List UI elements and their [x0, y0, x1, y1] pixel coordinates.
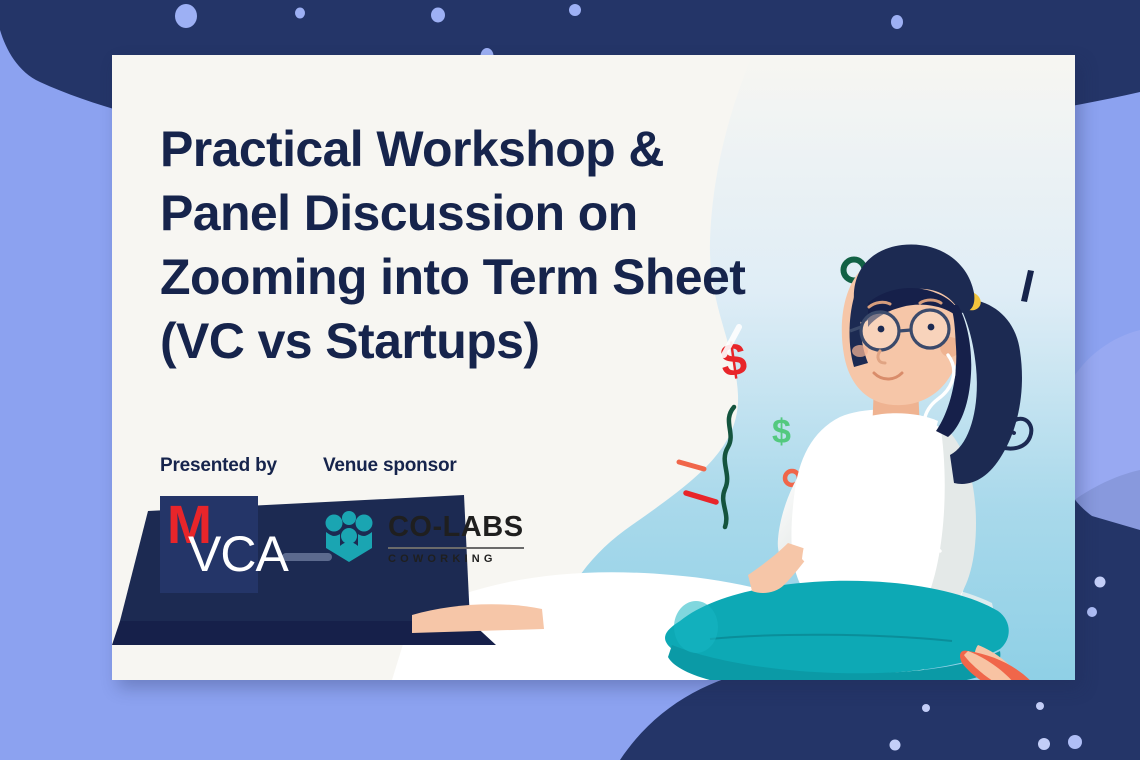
knee-highlight	[674, 601, 718, 653]
title-line-1: Practical Workshop &	[160, 117, 960, 181]
venue-sponsor-label: Venue sponsor	[323, 455, 524, 477]
mvca-logo-letters-vca: VCA	[188, 526, 288, 582]
co-labs-divider	[388, 547, 524, 549]
co-labs-logo: CO-LABS COWORKING	[323, 509, 524, 569]
co-labs-wordmark: CO-LABS COWORKING	[388, 512, 524, 566]
co-labs-people-icon	[323, 510, 375, 569]
title-line-2: Panel Discussion on	[160, 181, 960, 245]
co-labs-main-text: CO-LABS	[388, 512, 524, 543]
page-title: Practical Workshop & Panel Discussion on…	[160, 117, 960, 373]
sponsor-row: Presented by M VCA Venue sponsor	[160, 455, 524, 593]
mvca-logo: M VCA	[160, 496, 258, 593]
presented-by-label: Presented by	[160, 455, 277, 477]
title-line-3: Zooming into Term Sheet	[160, 245, 960, 309]
venue-sponsor-block: Venue sponsor CO-LABS	[323, 455, 524, 569]
co-labs-sub-text: COWORKING	[388, 553, 524, 566]
title-line-4: (VC vs Startups)	[160, 309, 960, 373]
event-card: $ $ $	[112, 55, 1075, 680]
presented-by-block: Presented by M VCA	[160, 455, 277, 593]
dollar-sign-green-icon: $	[772, 413, 791, 451]
slide-canvas: $ $ $	[0, 0, 1140, 760]
